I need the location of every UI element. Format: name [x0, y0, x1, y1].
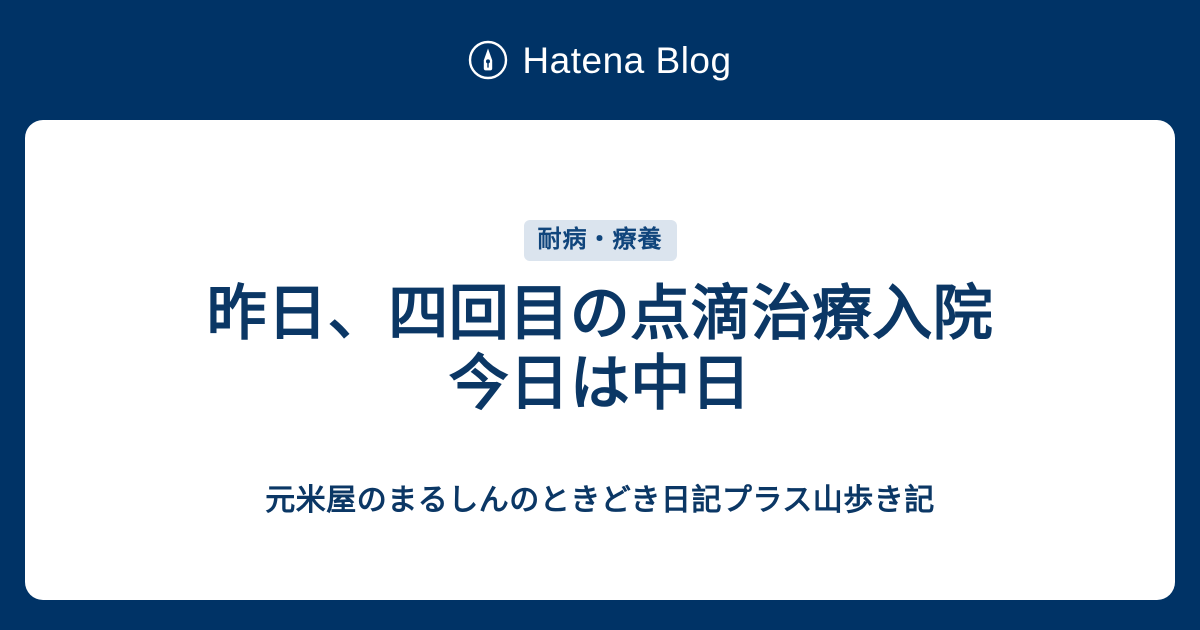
service-name: Hatena Blog: [522, 42, 731, 79]
pen-nib-in-circle-icon: [468, 40, 508, 80]
service-brand-header: Hatena Blog: [0, 0, 1200, 120]
category-badge[interactable]: 耐病・療養: [524, 220, 677, 261]
entry-card: 耐病・療養 昨日、四回目の点滴治療入院 今日は中日 元米屋のまるしんのときどき日…: [25, 120, 1175, 600]
category-badge-row: 耐病・療養: [25, 220, 1175, 261]
entry-title-line: 昨日、四回目の点滴治療入院: [100, 279, 1100, 349]
entry-title-line: 今日は中日: [100, 349, 1100, 419]
blog-title: 元米屋のまるしんのときどき日記プラス山歩き記: [100, 481, 1100, 520]
entry-title: 昨日、四回目の点滴治療入院 今日は中日: [100, 279, 1100, 419]
og-image-card: Hatena Blog 耐病・療養 昨日、四回目の点滴治療入院 今日は中日 元米…: [0, 0, 1200, 630]
